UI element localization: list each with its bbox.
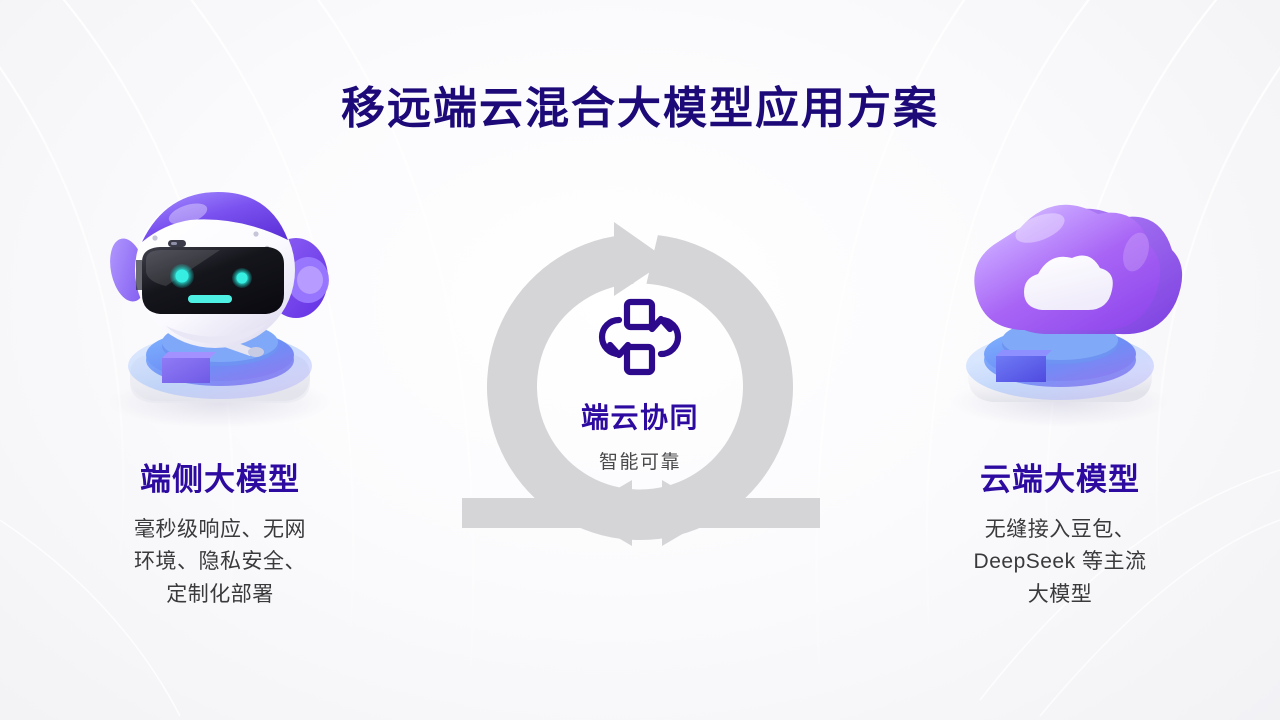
cloud-3d-icon	[910, 170, 1210, 440]
left-panel: 端侧大模型 毫秒级响应、无网 环境、隐私安全、 定制化部署	[30, 170, 410, 611]
robot-3d-icon	[70, 170, 370, 440]
left-panel-heading: 端侧大模型	[30, 462, 410, 498]
right-panel: 云端大模型 无缝接入豆包、 DeepSeek 等主流 大模型	[870, 170, 1250, 611]
center-subtitle: 智能可靠	[400, 447, 880, 474]
right-body-line-2: DeepSeek 等主流	[870, 546, 1250, 579]
center-panel: 端云协同 智能可靠	[400, 208, 880, 628]
sync-exchange-icon	[597, 294, 683, 380]
center-content: 端云协同 智能可靠	[400, 294, 880, 474]
left-body-line-1: 毫秒级响应、无网	[30, 514, 410, 547]
left-panel-body: 毫秒级响应、无网 环境、隐私安全、 定制化部署	[30, 514, 410, 612]
page-title: 移远端云混合大模型应用方案	[0, 72, 1280, 136]
right-body-line-1: 无缝接入豆包、	[870, 514, 1250, 547]
left-body-line-2: 环境、隐私安全、	[30, 546, 410, 579]
center-heading: 端云协同	[400, 396, 880, 436]
right-body-line-3: 大模型	[870, 579, 1250, 612]
slide-canvas: 移远端云混合大模型应用方案	[0, 0, 1280, 720]
left-body-line-3: 定制化部署	[30, 579, 410, 612]
right-panel-heading: 云端大模型	[870, 462, 1250, 498]
right-panel-body: 无缝接入豆包、 DeepSeek 等主流 大模型	[870, 514, 1250, 612]
